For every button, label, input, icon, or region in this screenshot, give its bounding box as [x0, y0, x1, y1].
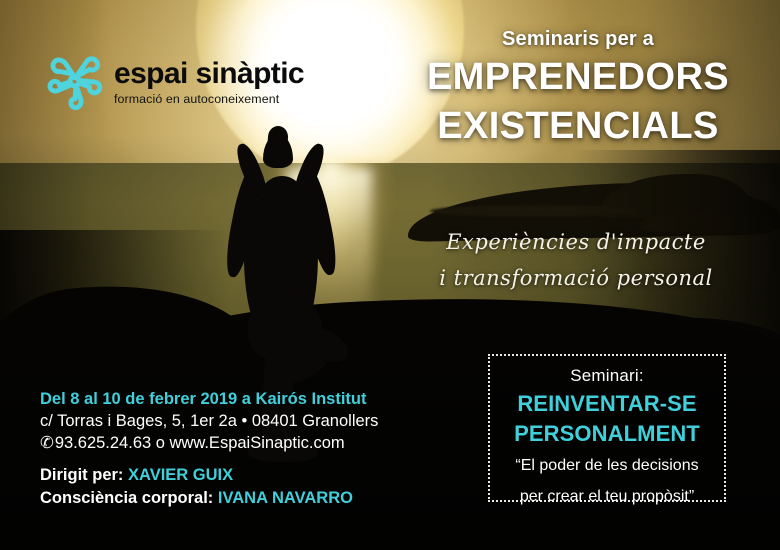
headline-line-2: EXISTENCIALS: [418, 104, 738, 149]
credit-director: Dirigit per: XAVIER GUIX: [40, 464, 353, 487]
logo-wordmark: espai sinàptic formació en autoconeixeme…: [114, 59, 304, 105]
script-tagline-line-1: Experiències d'impacte: [426, 224, 726, 260]
contact-phone-web[interactable]: ✆93.625.24.63 o www.EspaiSinaptic.com: [40, 432, 378, 454]
headline-line-1: EMPRENEDORS: [418, 55, 738, 100]
headline-kicker: Seminaris per a: [418, 28, 738, 51]
credit-body-label: Consciència corporal:: [40, 489, 213, 507]
credit-director-name: XAVIER GUIX: [128, 466, 233, 484]
credit-body-name: IVANA NAVARRO: [218, 489, 353, 507]
figure-fingertips: [267, 125, 288, 148]
logo-tagline: formació en autoconeixement: [114, 93, 304, 105]
script-tagline: Experiències d'impacte i transformació p…: [426, 224, 726, 296]
brand-logo[interactable]: espai sinàptic formació en autoconeixeme…: [40, 46, 304, 118]
poster-canvas: espai sinàptic formació en autoconeixeme…: [0, 0, 780, 550]
credit-body: Consciència corporal: IVANA NAVARRO: [40, 487, 353, 510]
contact-block: Del 8 al 10 de febrer 2019 a Kairós Inst…: [40, 388, 378, 454]
script-tagline-line-2: i transformació personal: [426, 260, 726, 296]
credits-block: Dirigit per: XAVIER GUIX Consciència cor…: [40, 464, 353, 511]
contact-address: c/ Torras i Bages, 5, 1er 2a • 08401 Gra…: [40, 410, 378, 432]
seminar-label: Seminari:: [490, 366, 724, 386]
seminar-quote-line-1: “El poder de les decisions: [490, 456, 724, 476]
seminar-box[interactable]: Seminari: REINVENTAR-SE PERSONALMENT “El…: [488, 354, 726, 502]
seminar-title-line-2: PERSONALMENT: [490, 421, 724, 446]
headline-block: Seminaris per a EMPRENEDORS EXISTENCIALS: [418, 28, 738, 149]
neuron-icon: [40, 46, 110, 118]
contact-dates-venue: Del 8 al 10 de febrer 2019 a Kairós Inst…: [40, 388, 378, 410]
seminar-title-line-1: REINVENTAR-SE: [490, 391, 724, 416]
seminar-quote-line-2: per crear el teu propòsit”: [490, 487, 724, 507]
credit-director-label: Dirigit per:: [40, 466, 123, 484]
contact-phone-web-text: 93.625.24.63 o www.EspaiSinaptic.com: [55, 434, 345, 452]
phone-icon: ✆: [40, 432, 54, 454]
logo-name: espai sinàptic: [114, 59, 304, 89]
